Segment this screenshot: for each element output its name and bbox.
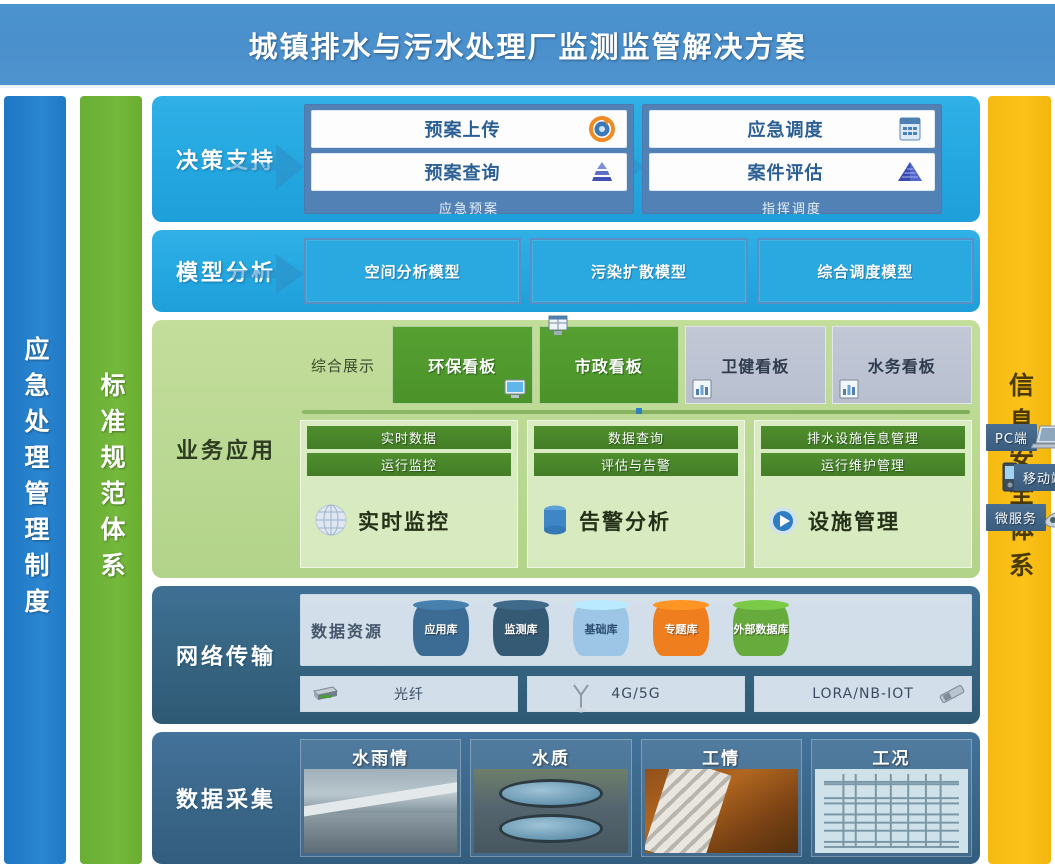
fiber-switch-icon bbox=[311, 683, 339, 705]
sensor-module-icon bbox=[937, 683, 965, 705]
service-icon bbox=[1042, 504, 1055, 530]
play-circle-icon bbox=[765, 503, 801, 539]
model-box-spatial[interactable]: 空间分析模型 bbox=[304, 238, 521, 304]
board-health-label: 卫健看板 bbox=[721, 353, 789, 377]
endpoint-list: PC端 bbox=[986, 424, 1055, 566]
business-col-alarm: 数据查询 评估与告警 告警分析 bbox=[527, 420, 745, 568]
board-water-affairs-label: 水务看板 bbox=[868, 353, 936, 377]
network-link-fiber-label: 光纤 bbox=[394, 684, 424, 704]
endpoint-mobile[interactable]: 移动端 bbox=[1000, 464, 1055, 490]
db-basic[interactable]: 基础库 bbox=[573, 604, 629, 656]
layer-label-business: 业务应用 bbox=[152, 320, 300, 578]
layer-label-data-acquisition: 数据采集 bbox=[152, 732, 300, 864]
layer-label-network: 网络传输 bbox=[152, 586, 300, 724]
row-plan-upload[interactable]: 预案上传 bbox=[311, 110, 627, 148]
pillar-emergency-management: 应急处理管理制度 bbox=[4, 96, 66, 864]
pillar-standards-system: 标准规范体系 bbox=[80, 96, 142, 864]
data-card-works[interactable]: 工情 bbox=[641, 739, 802, 857]
river-channel-photo bbox=[304, 769, 457, 853]
data-card-water-quality-title: 水质 bbox=[474, 743, 627, 769]
page-title: 城镇排水与污水处理厂监测监管解决方案 bbox=[248, 24, 806, 66]
board-municipal-label: 市政看板 bbox=[575, 353, 643, 377]
db-application[interactable]: 应用库 bbox=[413, 604, 469, 656]
network-link-fiber[interactable]: 光纤 bbox=[300, 676, 518, 712]
endpoint-microservice-label: 微服务 bbox=[986, 504, 1046, 531]
data-acquisition-card-list: 水雨情 水质 工情 工况 bbox=[300, 739, 972, 857]
layer-model-analysis: 模型分析 空间分析模型 污染扩散模型 综合调度模型 bbox=[152, 230, 980, 312]
antenna-icon bbox=[570, 683, 598, 705]
board-water-affairs[interactable]: 水务看板 bbox=[832, 326, 973, 404]
caption-emergency-plan: 应急预案 bbox=[311, 196, 627, 217]
calendar-grid-icon bbox=[893, 114, 927, 144]
pipeline-trench-photo bbox=[645, 769, 798, 853]
business-feature-alarm-analysis[interactable]: 告警分析 bbox=[534, 480, 738, 562]
network-link-lora-label: LORA/NB-IOT bbox=[812, 686, 914, 702]
endpoint-microservice[interactable]: 微服务 bbox=[986, 504, 1055, 530]
refresh-cycle-icon bbox=[585, 114, 619, 144]
business-col-monitoring: 实时数据 运行监控 实时监控 bbox=[300, 420, 518, 568]
feature-alarm-analysis-label: 告警分析 bbox=[579, 506, 671, 536]
scada-diagram-photo bbox=[815, 769, 968, 853]
caption-command-dispatch: 指挥调度 bbox=[649, 196, 935, 217]
chart-doc-icon bbox=[838, 379, 862, 399]
endpoint-pc[interactable]: PC端 bbox=[986, 424, 1055, 450]
db-external[interactable]: 外部数据库 bbox=[733, 604, 789, 656]
chip-data-query[interactable]: 数据查询 bbox=[534, 426, 738, 449]
board-environment[interactable]: 环保看板 bbox=[392, 326, 533, 404]
feature-realtime-monitoring-label: 实时监控 bbox=[358, 506, 450, 536]
db-monitoring[interactable]: 监测库 bbox=[493, 604, 549, 656]
row-plan-upload-label: 预案上传 bbox=[312, 116, 585, 142]
feature-facility-management-label: 设施管理 bbox=[808, 506, 900, 536]
data-card-operating-condition[interactable]: 工况 bbox=[811, 739, 972, 857]
row-emergency-dispatch[interactable]: 应急调度 bbox=[649, 110, 935, 148]
data-resource-label: 数据资源 bbox=[311, 618, 383, 642]
data-card-operating-condition-title: 工况 bbox=[815, 743, 968, 769]
board-municipal[interactable]: 市政看板 bbox=[539, 326, 680, 404]
business-feature-realtime-monitoring[interactable]: 实时监控 bbox=[307, 480, 511, 562]
network-inner: 数据资源 应用库 监测库 基础库 专题库 外部数据库 bbox=[300, 594, 972, 716]
window-icon bbox=[546, 315, 570, 335]
model-box-pollution-diffusion[interactable]: 污染扩散模型 bbox=[530, 238, 747, 304]
monitor-icon bbox=[503, 379, 527, 399]
database-icon bbox=[538, 502, 572, 540]
sedimentation-pools-photo bbox=[474, 769, 627, 853]
divider-marker bbox=[636, 408, 642, 414]
diagram-root: 城镇排水与污水处理厂监测监管解决方案 应急处理管理制度 标准规范体系 信息安全体… bbox=[0, 0, 1055, 868]
row-case-assessment-label: 案件评估 bbox=[650, 159, 893, 185]
group-command-dispatch: 应急调度 案件评估 bbox=[642, 104, 942, 214]
layer-network-transmission: 网络传输 数据资源 应用库 监测库 基础库 专题库 外部数据库 bbox=[152, 586, 980, 724]
row-plan-query-label: 预案查询 bbox=[312, 159, 585, 185]
chip-drainage-facility-info[interactable]: 排水设施信息管理 bbox=[761, 426, 965, 449]
row-case-assessment[interactable]: 案件评估 bbox=[649, 153, 935, 191]
pyramid-chart-icon bbox=[585, 157, 619, 187]
laptop-icon bbox=[1031, 423, 1055, 451]
pyramid-3d-icon bbox=[893, 157, 927, 187]
business-col-facility: 排水设施信息管理 运行维护管理 设施管理 bbox=[754, 420, 972, 568]
group-emergency-plan: 预案上传 预案查询 bbox=[304, 104, 634, 214]
globe-icon bbox=[311, 501, 351, 541]
chart-doc-icon bbox=[691, 379, 715, 399]
chip-operation-monitoring[interactable]: 运行监控 bbox=[307, 453, 511, 476]
endpoint-pc-label: PC端 bbox=[986, 424, 1037, 451]
row-plan-query[interactable]: 预案查询 bbox=[311, 153, 627, 191]
model-box-integrated-dispatch[interactable]: 综合调度模型 bbox=[757, 238, 974, 304]
header-banner: 城镇排水与污水处理厂监测监管解决方案 bbox=[0, 4, 1055, 88]
data-card-hydrology-title: 水雨情 bbox=[304, 743, 457, 769]
data-card-water-quality[interactable]: 水质 bbox=[470, 739, 631, 857]
comprehensive-display-label: 综合展示 bbox=[300, 326, 386, 404]
business-feature-facility-management[interactable]: 设施管理 bbox=[761, 480, 965, 562]
data-resource-panel: 数据资源 应用库 监测库 基础库 专题库 外部数据库 bbox=[300, 594, 972, 666]
network-link-lora[interactable]: LORA/NB-IOT bbox=[754, 676, 972, 712]
network-link-cellular-label: 4G/5G bbox=[611, 686, 660, 702]
comprehensive-display-row: 综合展示 环保看板 市政看板 bbox=[300, 326, 972, 404]
network-link-cellular[interactable]: 4G/5G bbox=[527, 676, 745, 712]
business-column-list: 实时数据 运行监控 实时监控 bbox=[300, 420, 972, 568]
board-health[interactable]: 卫健看板 bbox=[685, 326, 826, 404]
model-box-list: 空间分析模型 污染扩散模型 综合调度模型 bbox=[304, 238, 974, 304]
data-card-works-title: 工情 bbox=[645, 743, 798, 769]
chip-assessment-alarm[interactable]: 评估与告警 bbox=[534, 453, 738, 476]
layer-decision-support: 决策支持 预案上传 预案查询 bbox=[152, 96, 980, 222]
endpoint-mobile-label: 移动端 bbox=[1014, 464, 1055, 491]
db-thematic[interactable]: 专题库 bbox=[653, 604, 709, 656]
business-inner: 综合展示 环保看板 市政看板 bbox=[300, 326, 972, 572]
chip-operation-maintenance[interactable]: 运行维护管理 bbox=[761, 453, 965, 476]
layer-business-application: 业务应用 综合展示 环保看板 bbox=[152, 320, 980, 578]
chip-realtime-data[interactable]: 实时数据 bbox=[307, 426, 511, 449]
row-emergency-dispatch-label: 应急调度 bbox=[650, 116, 893, 142]
board-environment-label: 环保看板 bbox=[428, 353, 496, 377]
layer-data-acquisition: 数据采集 水雨情 水质 工情 工况 bbox=[152, 732, 980, 864]
main-stack: 决策支持 预案上传 预案查询 bbox=[152, 96, 980, 864]
network-link-list: 光纤 4G/5G LORA/NB-IOT bbox=[300, 676, 972, 712]
data-card-hydrology[interactable]: 水雨情 bbox=[300, 739, 461, 857]
